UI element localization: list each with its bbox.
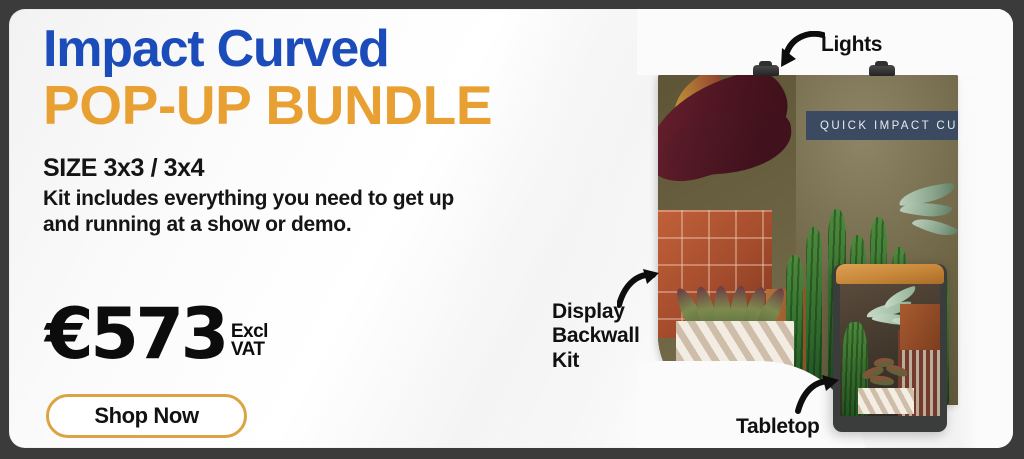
price-amount: €573 [45,305,226,365]
shop-now-button[interactable]: Shop Now [46,394,247,438]
tabletop-wood-surface [836,264,944,284]
headline-line-2: POP-UP BUNDLE [43,77,603,133]
callout-lights-label: Lights [821,33,882,56]
red-succulent-icon [862,356,914,390]
backwall-banner-text: QUICK IMPACT CURVED [820,120,958,132]
backwall-banner-strip: QUICK IMPACT CURVED [806,111,958,140]
photo-mask-right [959,9,1013,448]
headline-line-1: Impact Curved [43,23,603,76]
light-fixture-icon [869,65,895,76]
callout-display-backwall-kit: Display Backwall Kit [552,300,640,373]
callout-backwall-line-3: Kit [552,349,640,373]
curved-arrow-right-icon [617,267,661,309]
promo-banner: Impact Curved POP-UP BUNDLE SIZE 3x3 / 3… [0,0,1024,459]
tabletop-frame [833,264,947,432]
shop-now-label: Shop Now [94,403,198,429]
curved-arrow-left-icon [779,31,825,73]
kit-description: Kit includes everything you need to get … [43,186,473,238]
curved-arrow-right-icon [795,373,841,415]
promo-card: Impact Curved POP-UP BUNDLE SIZE 3x3 / 3… [9,9,1013,448]
callout-tabletop: Tabletop [736,415,820,439]
tabletop-graphic [840,282,940,416]
callout-lights: Lights [821,33,882,57]
price-excl-vat: Excl VAT [231,323,268,360]
size-label: SIZE 3x3 / 3x4 [43,154,603,183]
price-excl-line-2: VAT [231,341,268,359]
promo-text-column: Impact Curved POP-UP BUNDLE SIZE 3x3 / 3… [43,23,603,238]
light-fixture-icon [753,65,779,76]
callout-backwall-line-2: Backwall [552,324,640,348]
price-block: €573 Excl VAT [45,305,268,365]
terracotta-pot [900,304,940,350]
herringbone-planter [858,388,914,414]
callout-tabletop-label: Tabletop [736,415,820,438]
tabletop-counter [833,264,947,432]
